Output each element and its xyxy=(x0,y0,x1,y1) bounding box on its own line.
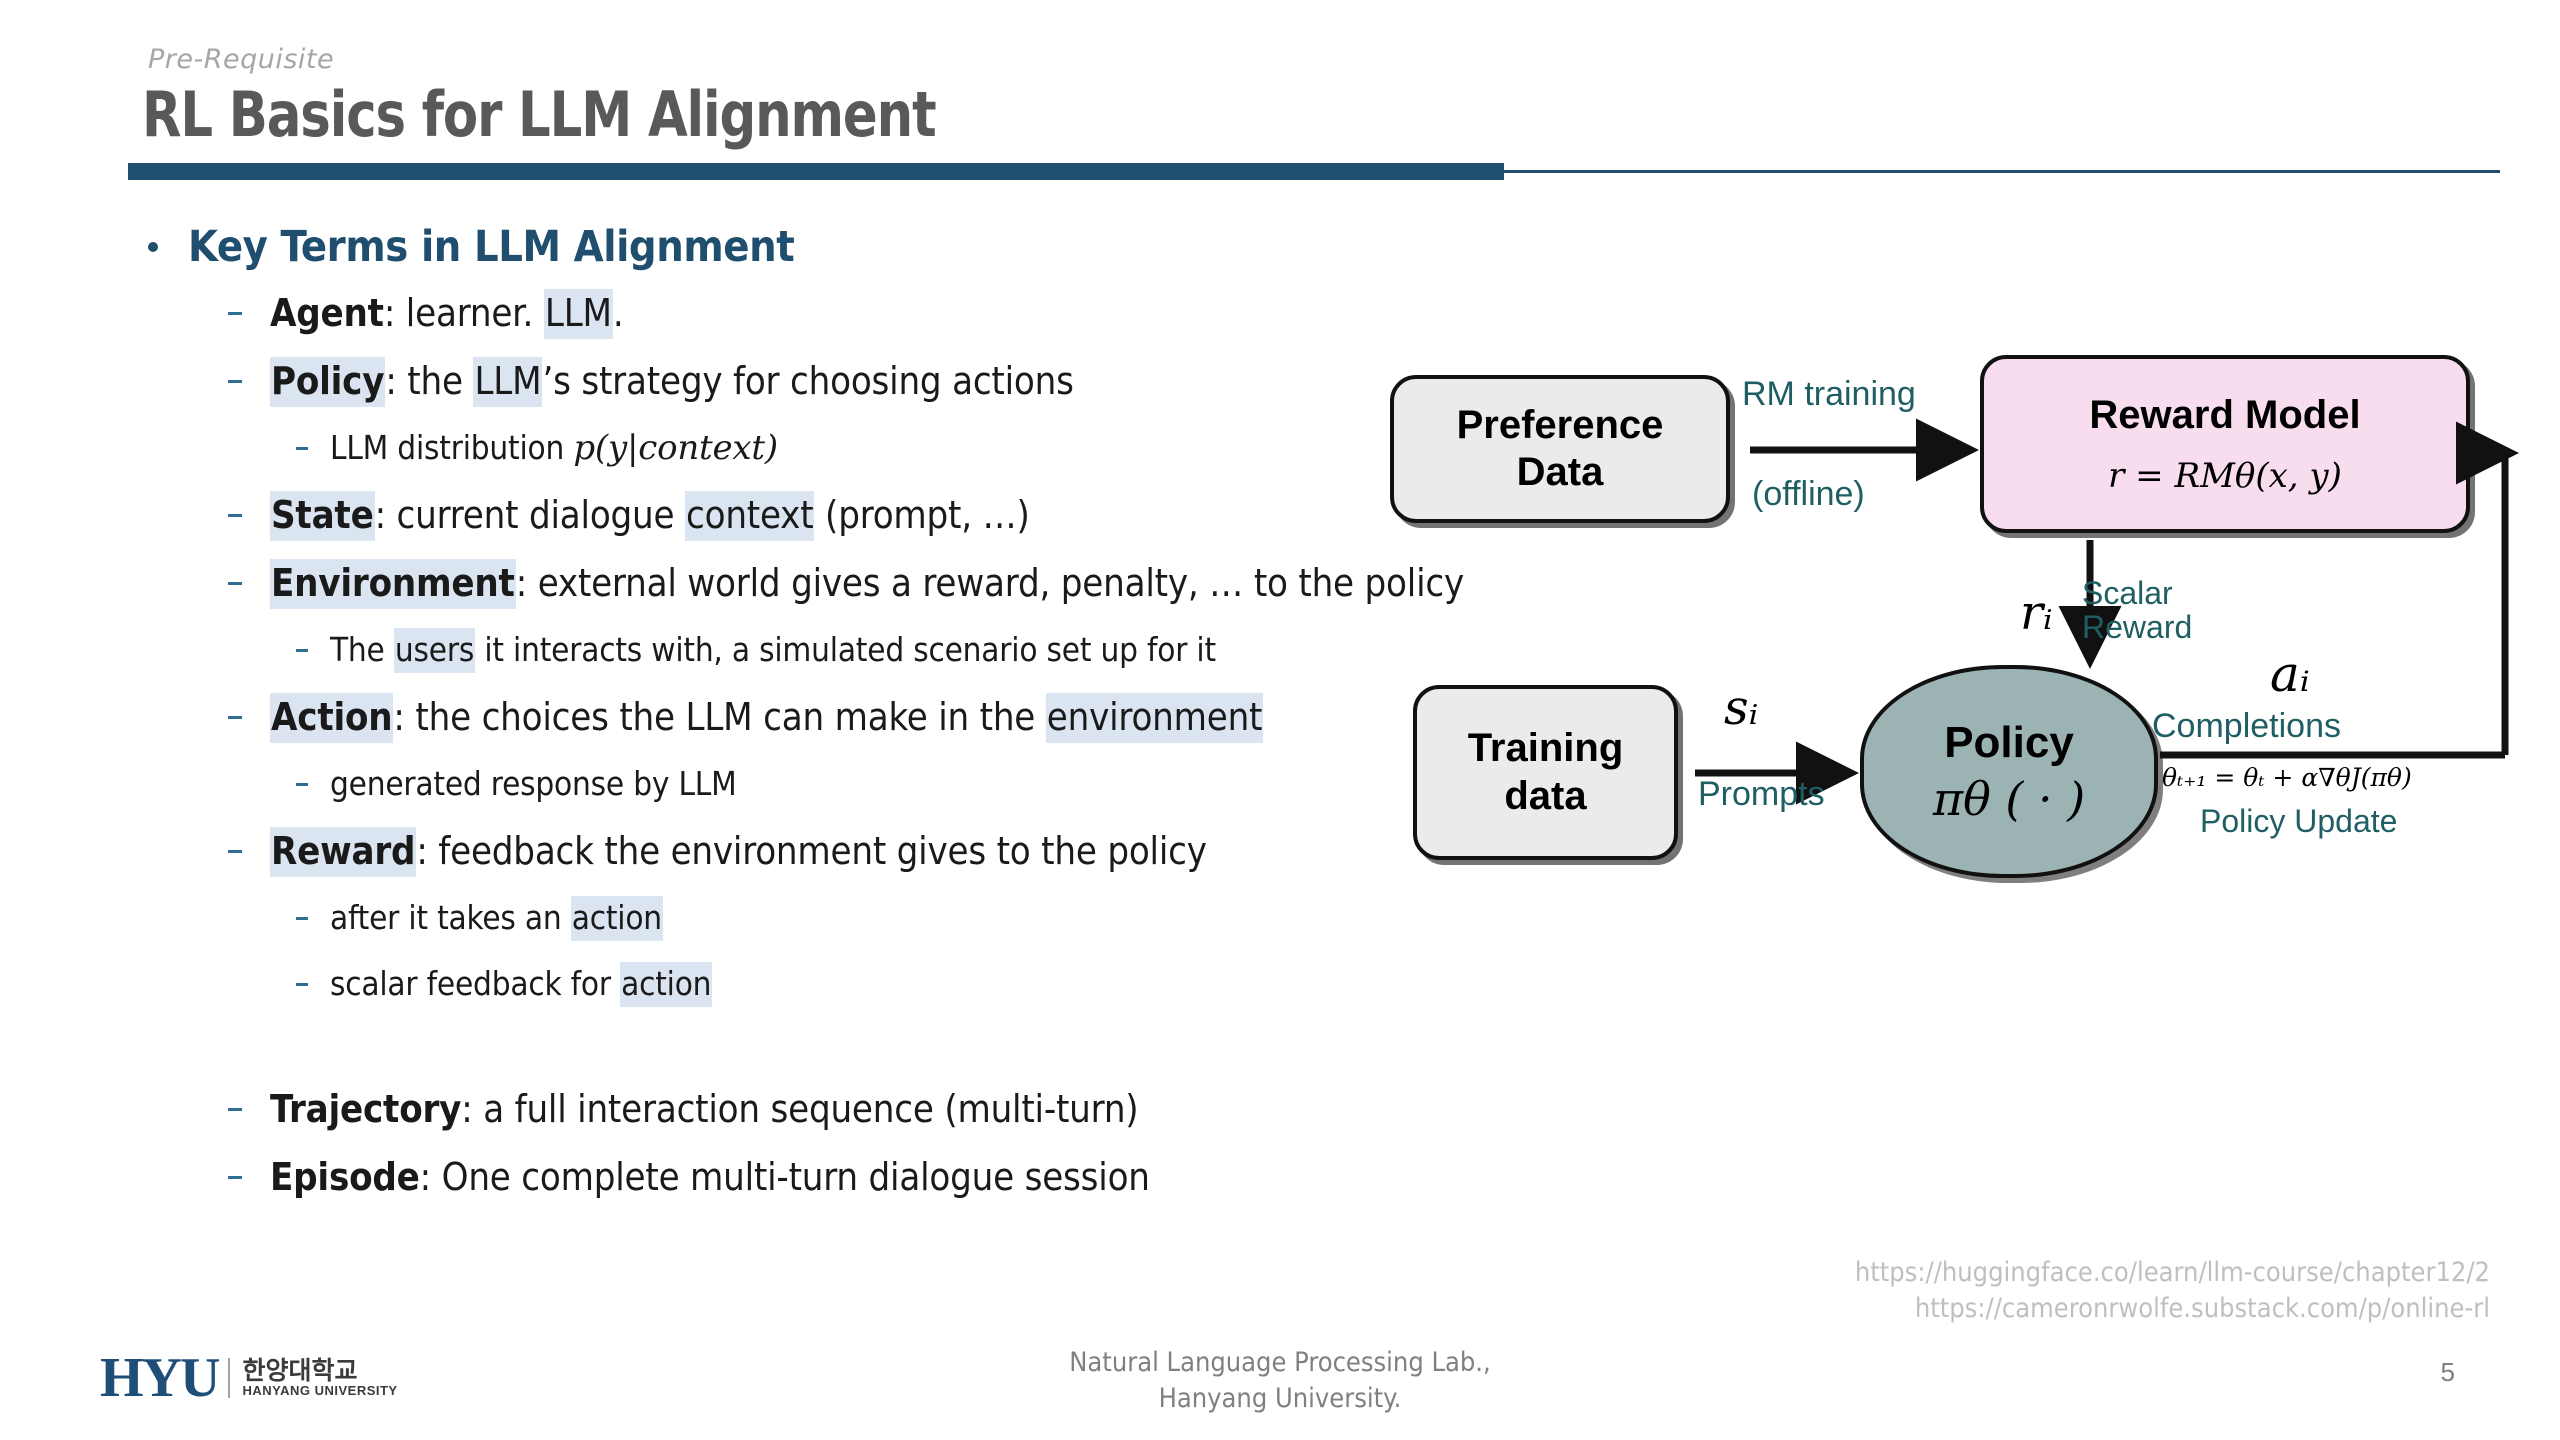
policy-title: Policy xyxy=(1944,718,2074,768)
label-prompts: Prompts xyxy=(1698,775,1825,814)
label-scalar-reward-line1: Scalar xyxy=(2082,577,2192,611)
term-rest-pre: : the xyxy=(385,359,473,403)
sub-text-pre: after it takes an xyxy=(330,898,571,937)
reward-model-title: Reward Model xyxy=(2089,392,2360,439)
list-item: The users it interacts with, a simulated… xyxy=(0,617,1480,683)
dash-bullet-icon xyxy=(228,716,242,719)
page-title: RL Basics for LLM Alignment xyxy=(142,78,936,151)
rlhf-diagram: Preference Data Reward Model r = RMθ(x, … xyxy=(1390,355,2560,955)
dash-bullet-icon xyxy=(296,783,308,786)
spacer xyxy=(0,1017,1480,1075)
policy-blob: Policy πθ ( · ) xyxy=(1860,665,2158,878)
term-rest-highlight: LLM xyxy=(544,289,613,339)
preference-data-line2: Data xyxy=(1457,449,1664,496)
dash-bullet-icon xyxy=(228,850,242,853)
term-label: Episode xyxy=(270,1155,420,1199)
dash-bullet-icon xyxy=(296,983,308,986)
dash-bullet-icon xyxy=(296,649,308,652)
label-reward-ri: rᵢ xyxy=(2020,585,2053,641)
list-item: scalar feedback for action xyxy=(0,951,1480,1017)
term-label: Action xyxy=(270,693,393,743)
list-item: State: current dialogue context (prompt,… xyxy=(0,481,1480,549)
list-item: Action: the choices the LLM can make in … xyxy=(0,683,1480,751)
term-rest-highlight: LLM xyxy=(473,357,542,407)
list-item: LLM distribution p(y|context) xyxy=(0,415,1480,481)
preference-data-box: Preference Data xyxy=(1390,375,1730,523)
sub-text-pre: The xyxy=(330,630,394,669)
body-content: Key Terms in LLM Alignment Agent: learne… xyxy=(0,215,1480,1211)
term-label: Reward xyxy=(270,827,416,877)
label-scalar-reward: Scalar Reward xyxy=(2082,577,2192,644)
term-rest-highlight: context xyxy=(685,491,814,541)
bullet-dot-icon xyxy=(148,242,158,252)
dash-bullet-icon xyxy=(228,1108,242,1111)
dash-bullet-icon xyxy=(228,582,242,585)
label-action-ai: aᵢ xyxy=(2270,645,2310,703)
dash-bullet-icon xyxy=(296,917,308,920)
hyu-name-block: 한양대학교 HANYANG UNIVERSITY xyxy=(228,1358,397,1398)
page-number: 5 xyxy=(2441,1357,2455,1388)
sub-text-highlight: users xyxy=(394,628,475,673)
sub-text-pre: generated response by LLM xyxy=(330,764,737,803)
training-data-box: Training data xyxy=(1413,685,1678,860)
preference-data-line1: Preference xyxy=(1457,402,1664,449)
term-label: Environment xyxy=(270,559,516,609)
hyu-wordmark: HYU xyxy=(100,1350,218,1406)
sub-text-highlight: action xyxy=(571,896,663,941)
training-data-line2: data xyxy=(1468,773,1624,820)
list-item: Policy: the LLM’s strategy for choosing … xyxy=(0,347,1480,415)
term-rest-pre: : learner. xyxy=(384,291,544,335)
list-item: Episode: One complete multi-turn dialogu… xyxy=(0,1143,1480,1211)
term-rest-post: (prompt, …) xyxy=(814,493,1029,537)
list-item: Trajectory: a full interaction sequence … xyxy=(0,1075,1480,1143)
term-rest-pre: : feedback the environment gives to the … xyxy=(416,829,1206,873)
dash-bullet-icon xyxy=(228,1176,242,1179)
term-label: State xyxy=(270,491,375,541)
hyu-logo: HYU 한양대학교 HANYANG UNIVERSITY xyxy=(100,1348,398,1408)
dash-bullet-icon xyxy=(228,514,242,517)
reward-model-box: Reward Model r = RMθ(x, y) xyxy=(1980,355,2470,533)
term-rest-highlight: environment xyxy=(1046,693,1263,743)
sub-text-pre: scalar feedback for xyxy=(330,964,620,1003)
list-item: Reward: feedback the environment gives t… xyxy=(0,817,1480,885)
term-rest-pre: : current dialogue xyxy=(375,493,685,537)
title-rule-thick xyxy=(128,163,1504,180)
label-state-si: sᵢ xyxy=(1724,680,1758,736)
source-links: https://huggingface.co/learn/llm-course/… xyxy=(1855,1255,2490,1328)
title-rule-thin xyxy=(1504,170,2500,173)
term-label: Agent xyxy=(270,291,384,335)
label-completions: Completions xyxy=(2152,707,2341,746)
label-policy-update: Policy Update xyxy=(2200,803,2397,840)
list-item: Agent: learner. LLM. xyxy=(0,279,1480,347)
policy-formula: πθ ( · ) xyxy=(1933,772,2085,826)
term-rest-pre: : a full interaction sequence (multi-tur… xyxy=(461,1087,1138,1131)
math-expression: p(y|context) xyxy=(573,428,778,468)
sub-text-post: it interacts with, a simulated scenario … xyxy=(475,630,1216,669)
list-item: Environment: external world gives a rewa… xyxy=(0,549,1480,617)
slide-header: Pre-Requisite RL Basics for LLM Alignmen… xyxy=(0,0,2560,180)
label-offline: (offline) xyxy=(1752,475,1865,514)
term-rest-pre: : external world gives a reward, penalty… xyxy=(516,561,1464,605)
training-data-line1: Training xyxy=(1468,725,1624,772)
dash-bullet-icon xyxy=(228,380,242,383)
source-link-2[interactable]: https://cameronrwolfe.substack.com/p/onl… xyxy=(1855,1291,2490,1327)
section-heading: Key Terms in LLM Alignment xyxy=(0,215,1480,279)
list-item: generated response by LLM xyxy=(0,751,1480,817)
section-heading-label: Key Terms in LLM Alignment xyxy=(188,222,794,272)
reward-model-formula: r = RMθ(x, y) xyxy=(2108,456,2342,496)
arrow-policy-to-rm-path xyxy=(2500,453,2505,755)
term-label: Policy xyxy=(270,357,385,407)
term-label: Trajectory xyxy=(270,1087,461,1131)
label-policy-update-equation: θₜ₊₁ = θₜ + α∇θJ(πθ) xyxy=(2162,763,2412,792)
term-rest-pre: : the choices the LLM can make in the xyxy=(393,695,1045,739)
term-rest-post: . xyxy=(613,291,624,335)
sub-text: LLM distribution xyxy=(330,428,564,467)
label-rm-training: RM training xyxy=(1742,375,1916,414)
term-rest-pre: : One complete multi-turn dialogue sessi… xyxy=(420,1155,1150,1199)
label-scalar-reward-line2: Reward xyxy=(2082,611,2192,645)
hyu-korean-name: 한양대학교 xyxy=(242,1358,397,1384)
pre-title: Pre-Requisite xyxy=(148,44,334,75)
source-link-1[interactable]: https://huggingface.co/learn/llm-course/… xyxy=(1855,1255,2490,1291)
dash-bullet-icon xyxy=(296,447,308,450)
sub-text-highlight: action xyxy=(620,962,712,1007)
dash-bullet-icon xyxy=(228,312,242,315)
term-rest-post: ’s strategy for choosing actions xyxy=(542,359,1073,403)
list-item: after it takes an action xyxy=(0,885,1480,951)
hyu-english-name: HANYANG UNIVERSITY xyxy=(242,1384,397,1398)
